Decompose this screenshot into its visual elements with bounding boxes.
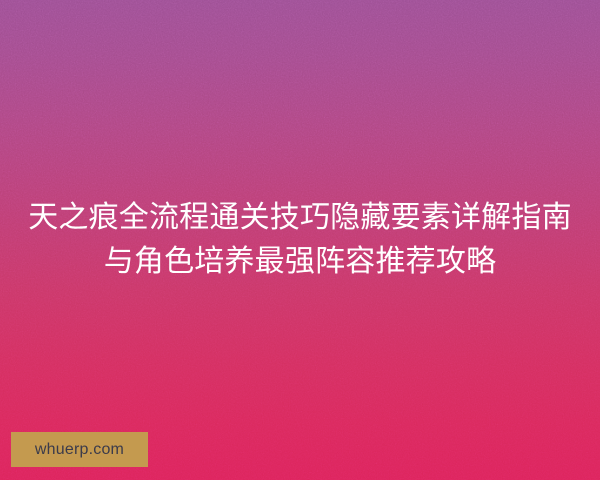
cover-title-line-2: 与角色培养最强阵容推荐攻略 — [14, 240, 586, 284]
watermark-badge: whuerp.com — [11, 432, 148, 467]
cover-title-line-1: 天之痕全流程通关技巧隐藏要素详解指南 — [14, 196, 586, 240]
cover-image-canvas: 天之痕全流程通关技巧隐藏要素详解指南 与角色培养最强阵容推荐攻略 whuerp.… — [0, 0, 600, 480]
watermark-label: whuerp.com — [35, 442, 124, 458]
cover-title: 天之痕全流程通关技巧隐藏要素详解指南 与角色培养最强阵容推荐攻略 — [0, 196, 600, 284]
